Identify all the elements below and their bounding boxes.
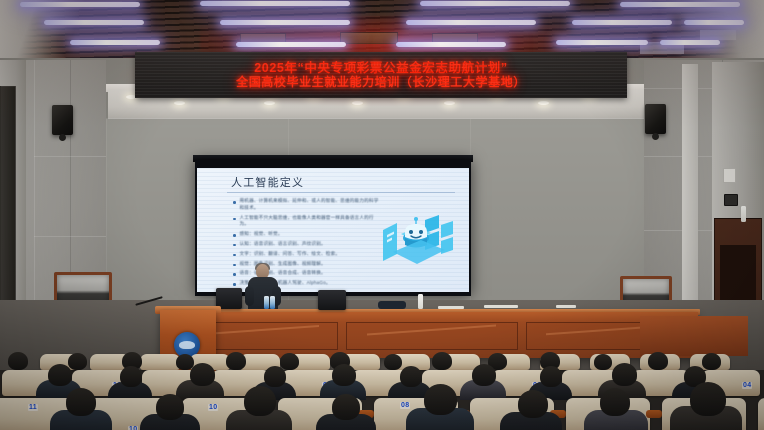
- seat-number: 10: [128, 426, 138, 430]
- tile-seam: [34, 156, 106, 157]
- slide-title: 人工智能定义: [231, 174, 304, 190]
- list-item: 认知：语音识别、语言识别、声纹识别。: [233, 241, 383, 248]
- led-banner: 2025年“中央专项彩票公益金宏志助航计划” 全国高校毕业生就业能力培训（长沙理…: [135, 52, 627, 98]
- ceiling-light-tube: [396, 42, 506, 47]
- head-table-right-section: [640, 316, 748, 356]
- downlight: [444, 101, 455, 105]
- ceiling-light-tube: [620, 2, 740, 7]
- attendee-head: [424, 384, 457, 415]
- attendee-head: [472, 364, 496, 386]
- ai-robot-illustration-icon: [379, 214, 455, 276]
- attendee-head: [648, 352, 668, 370]
- auditorium-scene: 2025年“中央专项彩票公益金宏志助航计划” 全国高校毕业生就业能力培训（长沙理…: [0, 0, 764, 430]
- bullet-dot-icon: [233, 283, 236, 286]
- bullet-dot-icon: [233, 264, 236, 267]
- attendee-head: [594, 354, 612, 370]
- table-chevron-detail: [367, 324, 496, 349]
- ceiling-light-tube: [20, 2, 140, 7]
- attendee-head: [702, 353, 721, 370]
- presentation-slide: 人工智能定义 用机器、计算机来模拟、延伸和、或人的智能、思维的能力的科学和技术。…: [197, 168, 469, 292]
- table-chevron-detail: [205, 325, 319, 349]
- attendee-head: [600, 388, 630, 416]
- attendee-head: [612, 363, 637, 386]
- bullet-dot-icon: [233, 218, 236, 221]
- ceiling-light-tube: [200, 1, 350, 6]
- seat-number: 04: [742, 382, 752, 389]
- ceiling-vent: [340, 32, 398, 44]
- seat-number: 11: [28, 404, 38, 411]
- attendee-head: [432, 352, 452, 370]
- attendee-head: [48, 364, 72, 386]
- attendee-head: [332, 364, 356, 386]
- list-item: 用机器、计算机来模拟、延伸和、或人的智能、思维的能力的科学和技术。: [233, 198, 383, 211]
- bullet-dot-icon: [233, 244, 236, 247]
- list-item: 文字：识别、翻译、问答、写作、绘文、检索。: [233, 251, 383, 258]
- attendee-head: [226, 352, 246, 370]
- slide-title-rule: [227, 192, 455, 193]
- power-outlet-plate[interactable]: [724, 194, 738, 206]
- bullet-text: 文字：识别、翻译、问答、写作、绘文、检索。: [240, 251, 341, 258]
- presenter-arm-left: [245, 286, 254, 306]
- attendee-head: [280, 353, 299, 370]
- bullet-text: 用机器、计算机来模拟、延伸和、或人的智能、思维的能力的科学和技术。: [240, 198, 384, 211]
- bullet-text: 感知：视觉、听觉。: [240, 231, 283, 238]
- wall-speaker-icon: [52, 105, 73, 135]
- bullet-text: 人工智能不只大脑思维，也能像人类和器官一样具备语言人的行为。: [240, 215, 384, 228]
- seat-number: 08: [400, 402, 410, 409]
- ceiling-light-tube: [44, 20, 144, 25]
- list-item: 感知：视觉、听觉。: [233, 231, 383, 238]
- downlight: [538, 101, 549, 105]
- ceiling-access-panel: [700, 30, 736, 40]
- led-banner-line-1: 2025年“中央专项彩票公益金宏志助航计划”: [254, 61, 508, 76]
- table-front-panel: [346, 322, 518, 350]
- cabinet-bottle: [741, 206, 746, 222]
- light-switch-plate[interactable]: [723, 168, 736, 183]
- attendee-head: [332, 394, 360, 420]
- ceiling-light-tube: [236, 42, 346, 47]
- ceiling-light-tube: [572, 20, 672, 25]
- downlight: [352, 101, 363, 105]
- downlight: [174, 101, 185, 105]
- attendee-head: [690, 382, 726, 416]
- seat[interactable]: [758, 398, 764, 430]
- ceiling-light-tube: [660, 40, 720, 45]
- bullet-text: 认知：语音识别、语言识别、声纹识别。: [240, 241, 326, 248]
- attendee-head: [156, 394, 184, 420]
- bullet-dot-icon: [233, 254, 236, 257]
- bullet-dot-icon: [233, 201, 236, 204]
- ceiling-light-tube: [70, 40, 160, 45]
- ceiling-light-tube: [556, 40, 648, 45]
- attendee-head: [68, 353, 87, 370]
- attendee-head: [66, 388, 96, 416]
- attendee-head: [120, 366, 142, 387]
- seat-armrest: [646, 410, 662, 418]
- attendee-head: [244, 386, 276, 416]
- laptop-bag: [378, 301, 406, 309]
- attendee-head: [400, 366, 422, 387]
- ceiling-corner-left: [0, 0, 120, 62]
- ceiling-light-tube: [220, 20, 350, 25]
- led-banner-line-2: 全国高校毕业生就业能力培训（长沙理工大学基地）: [236, 75, 526, 89]
- ceiling-light-tube: [406, 20, 536, 25]
- list-item: 人工智能不只大脑思维，也能像人类和器官一样具备语言人的行为。: [233, 215, 383, 228]
- seat[interactable]: [140, 354, 180, 370]
- papers-on-table: [484, 305, 518, 308]
- attendee-head: [518, 390, 548, 418]
- attendee-head: [190, 363, 215, 386]
- attendee-head: [8, 352, 28, 370]
- bullet-dot-icon: [233, 234, 236, 237]
- attendee-head: [540, 366, 562, 387]
- tile-seam: [34, 236, 106, 237]
- wall-speaker-icon: [645, 104, 666, 134]
- papers-on-table: [556, 305, 576, 308]
- papers-on-table: [438, 306, 464, 309]
- bullet-dot-icon: [233, 273, 236, 276]
- attendee-head: [264, 366, 286, 387]
- seat-number: 10: [208, 404, 218, 411]
- ceiling-light-tube: [684, 20, 744, 25]
- audience-area: 10 08 06 04: [0, 352, 764, 430]
- water-bottle: [264, 296, 269, 309]
- water-bottle: [270, 296, 275, 309]
- attendee-head: [384, 354, 402, 370]
- water-bottle: [418, 294, 423, 309]
- desk-monitor[interactable]: [318, 290, 346, 310]
- ceiling-light-tube: [420, 1, 570, 6]
- downlight: [264, 101, 275, 105]
